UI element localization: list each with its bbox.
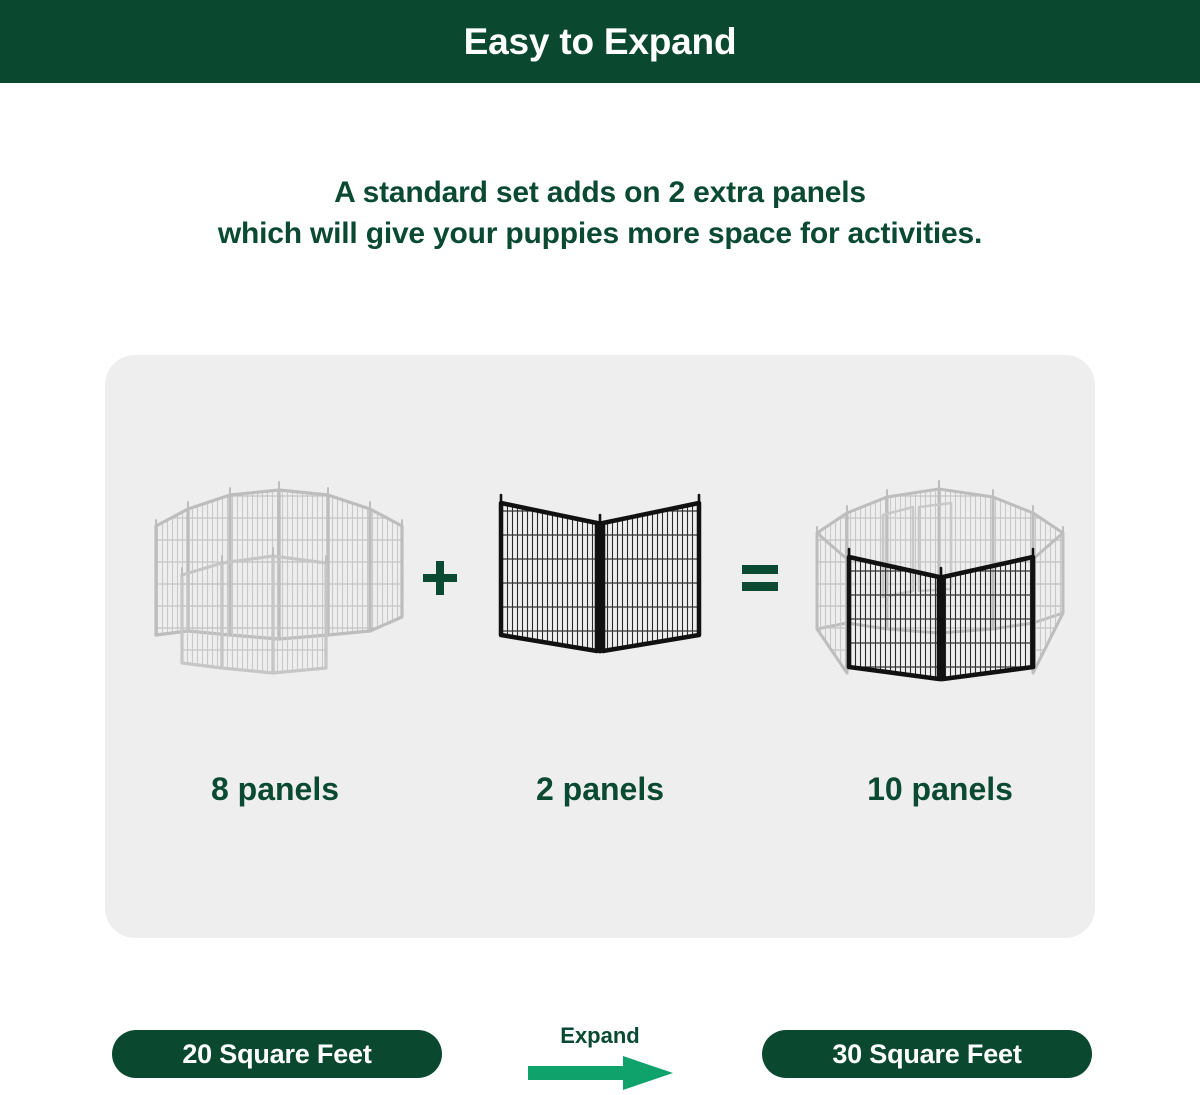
comparison-card: 8 panels 2 panels 10 panels bbox=[105, 355, 1095, 938]
subtitle-line-1: A standard set adds on 2 extra panels bbox=[0, 172, 1200, 213]
illustration-10-panels bbox=[795, 465, 1085, 690]
arrow-right-icon bbox=[528, 1056, 673, 1095]
illustration-2-panels bbox=[475, 465, 725, 690]
status-badge-30-sqft: 30 Square Feet bbox=[762, 1030, 1092, 1078]
page-title: Easy to Expand bbox=[464, 23, 737, 60]
operator-plus bbox=[405, 465, 475, 690]
operator-equals bbox=[725, 465, 795, 690]
playpen-decagon-10-panels-icon bbox=[803, 463, 1078, 693]
subtitle-block: A standard set adds on 2 extra panels wh… bbox=[0, 172, 1200, 255]
illustration-8-panels bbox=[125, 465, 425, 690]
badge-right-label: 30 Square Feet bbox=[832, 1039, 1021, 1070]
expand-indicator: Expand bbox=[500, 1020, 700, 1089]
panel-label-10: 10 panels bbox=[795, 765, 1085, 813]
badge-left-label: 20 Square Feet bbox=[182, 1039, 371, 1070]
expand-label: Expand bbox=[500, 1022, 700, 1050]
footer-row: 20 Square Feet Expand 30 Square Feet bbox=[0, 1020, 1200, 1089]
header-band: Easy to Expand bbox=[0, 0, 1200, 83]
status-badge-20-sqft: 20 Square Feet bbox=[112, 1030, 442, 1078]
plus-icon bbox=[423, 561, 457, 595]
playpen-two-panel-pair-icon bbox=[485, 475, 715, 680]
playpen-octagon-8-panels-icon bbox=[140, 463, 410, 693]
equals-icon bbox=[742, 565, 778, 591]
panel-label-8: 8 panels bbox=[125, 765, 425, 813]
subtitle-line-2: which will give your puppies more space … bbox=[0, 213, 1200, 254]
panel-labels-row: 8 panels 2 panels 10 panels bbox=[105, 765, 1095, 825]
panel-label-2: 2 panels bbox=[475, 765, 725, 813]
illustration-row bbox=[105, 465, 1095, 690]
